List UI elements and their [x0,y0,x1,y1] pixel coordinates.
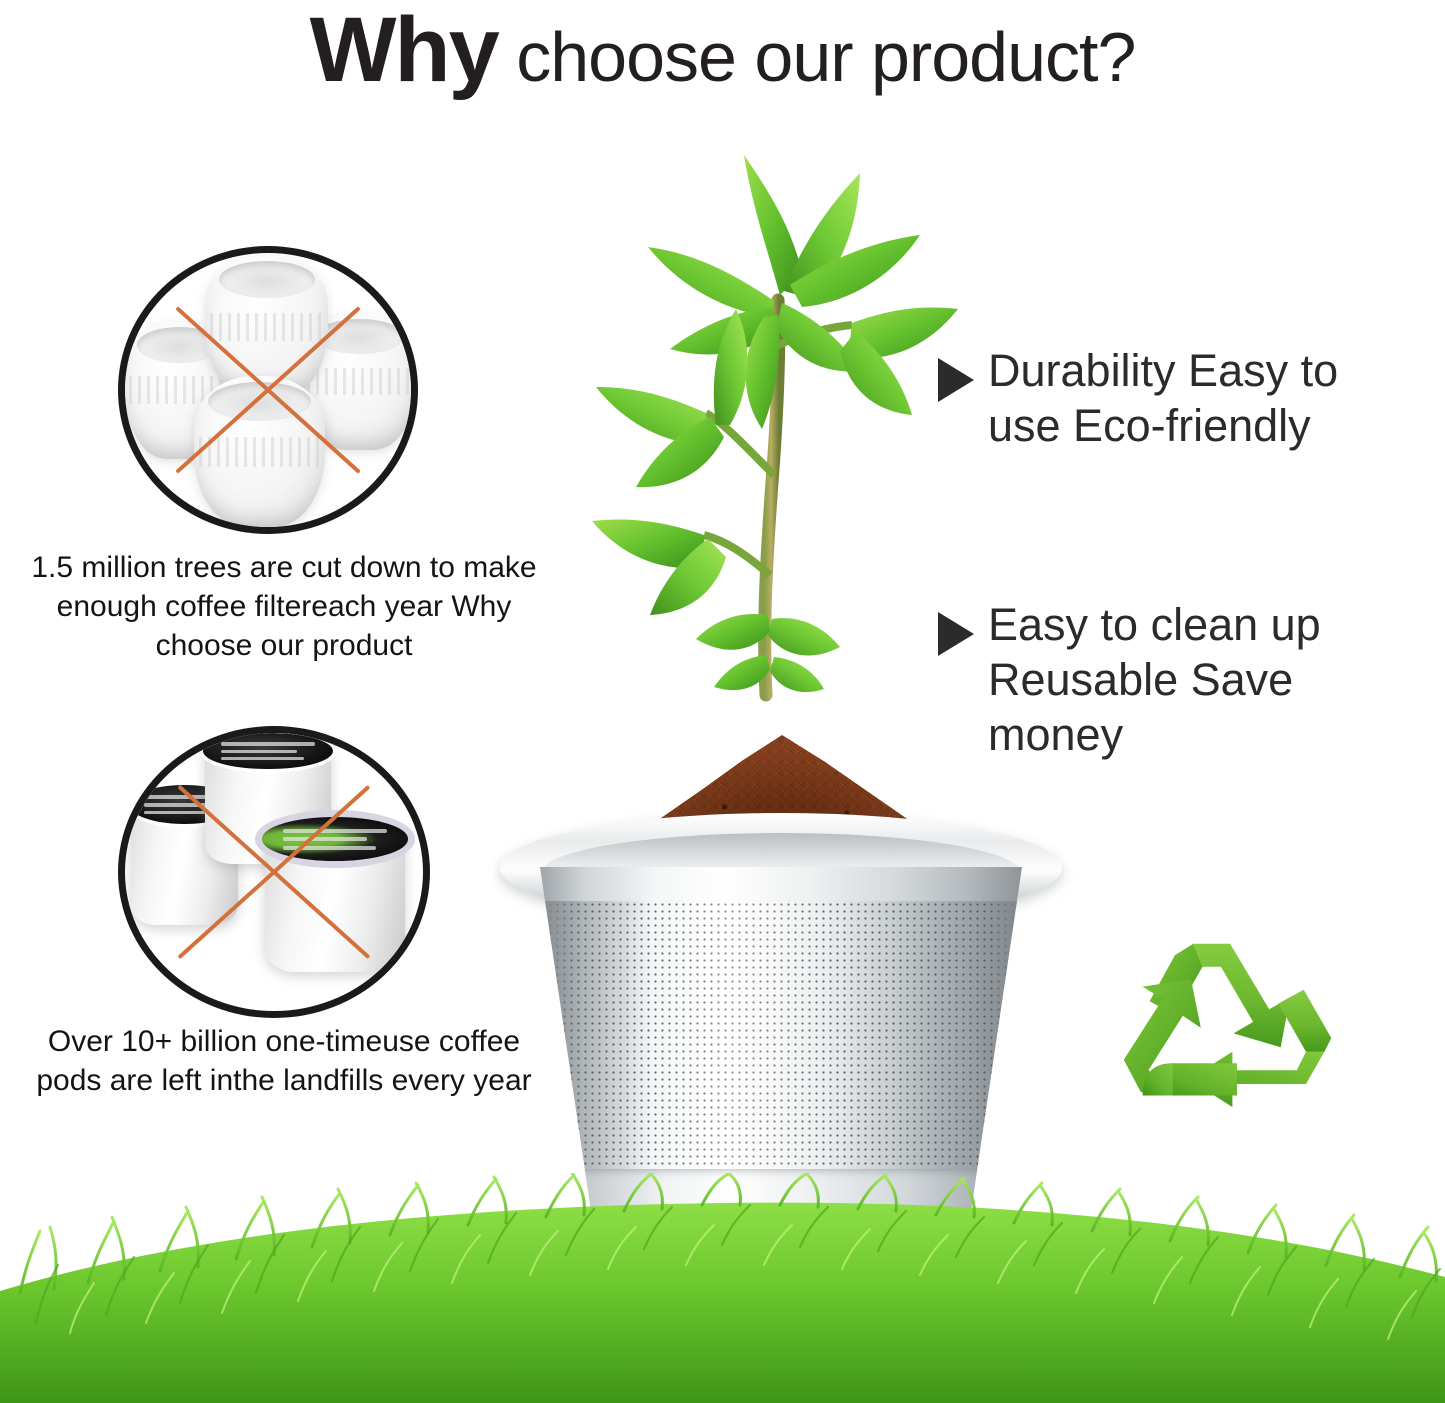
paper-filters-photo [125,253,411,527]
page-title-emphasis: Why [310,0,498,101]
benefit-bullet-durability: Durability Easy to use Eco-friendly [938,344,1408,454]
k-cup-pods-photo [125,733,423,1011]
k-cup-pod-shape [265,828,405,973]
pod-lid [203,733,333,769]
page-title: Why choose our product? [0,4,1445,96]
benefit-bullet-text: Durability Easy to use Eco-friendly [988,344,1408,454]
page-title-rest: choose our product? [498,18,1136,96]
green-seedling-plant [530,95,1000,735]
grass-ground [0,1173,1445,1403]
paper-filters-caption: 1.5 million trees are cut down to make e… [24,548,544,665]
recycle-icon [1122,918,1352,1158]
pods-caption: Over 10+ billion one-timeuse coffee pods… [34,1022,534,1100]
crossed-out-paper-coffee-filters-icon [118,246,418,534]
paper-filter-shape [194,376,326,527]
benefit-bullet-easy-clean: Easy to clean up Reusable Save money [938,598,1428,763]
crossed-out-single-use-pods-icon [118,726,430,1018]
benefit-bullet-text: Easy to clean up Reusable Save money [988,598,1428,763]
pod-lid [262,817,408,860]
filter-mesh-shading [540,901,1022,1171]
